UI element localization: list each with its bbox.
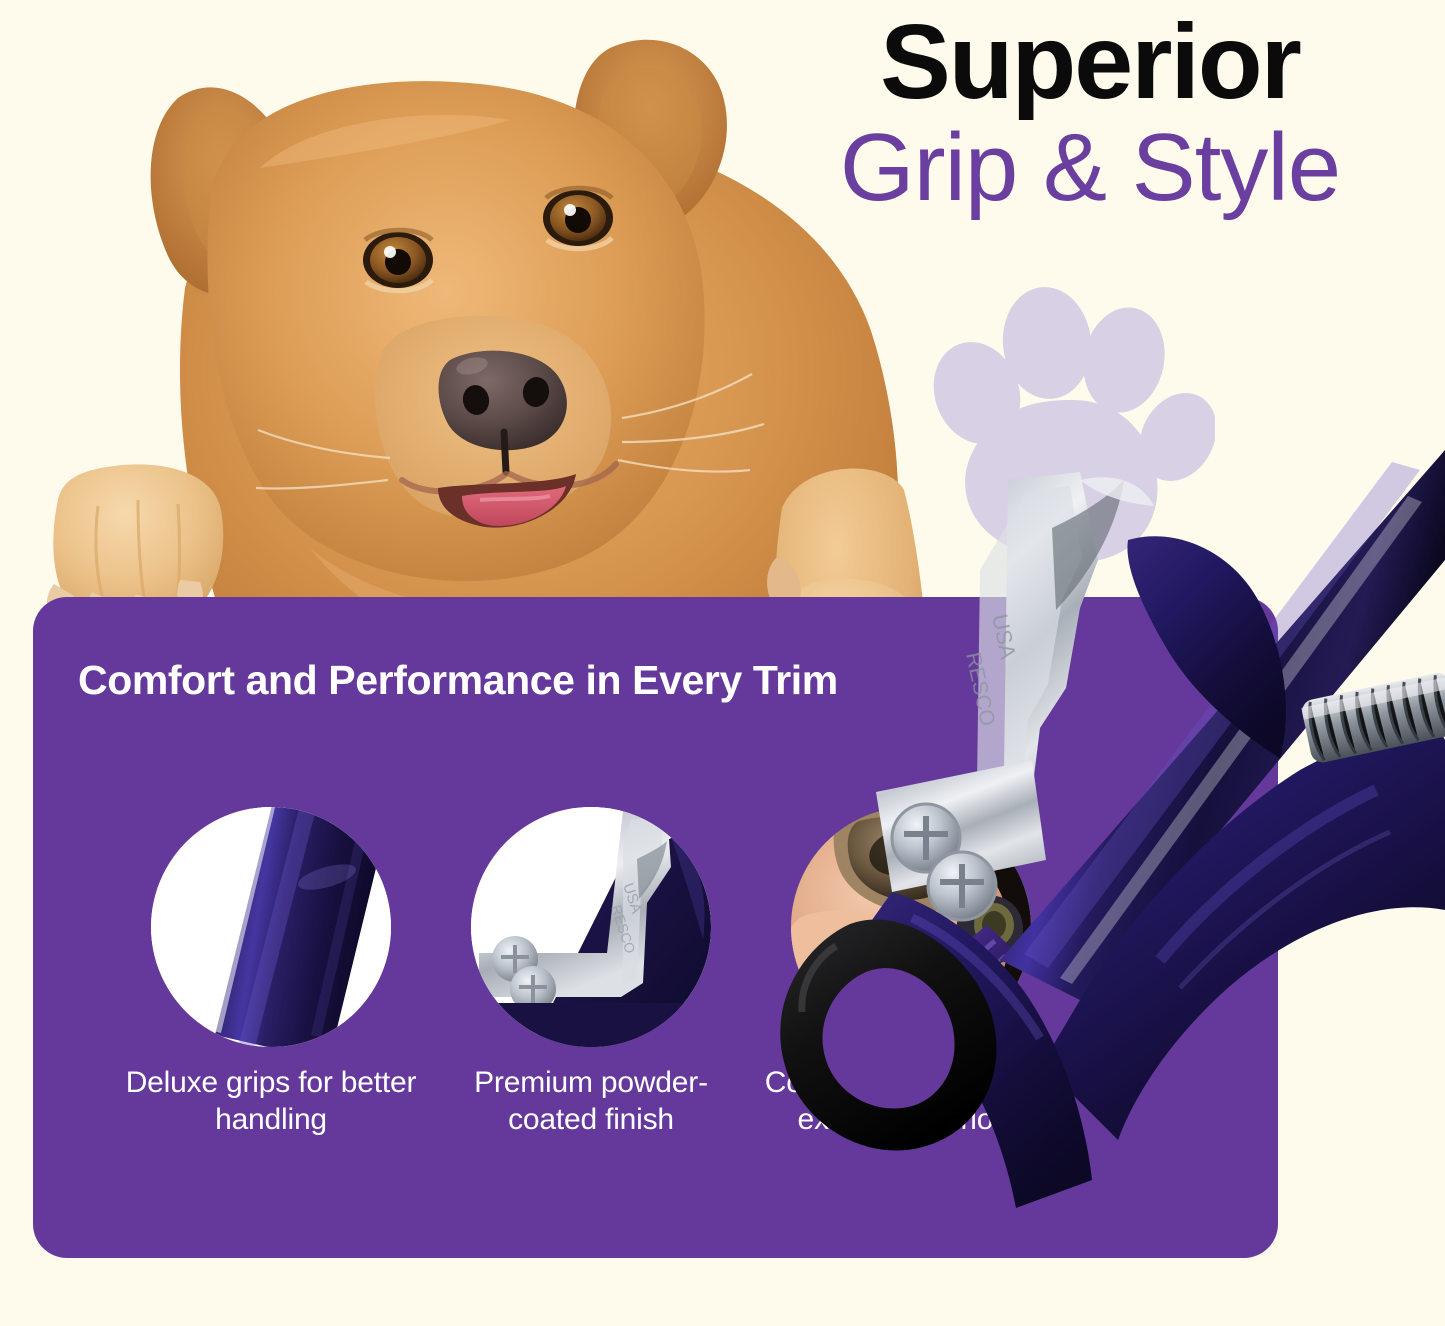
headline-line-2: Grip & Style <box>760 118 1420 219</box>
headline: Superior Grip & Style <box>760 8 1420 219</box>
feature-image-blade: USA RESCO <box>471 807 711 1047</box>
feature-image-in-use <box>791 807 1031 1047</box>
feature-image-handle <box>151 807 391 1047</box>
headline-line-1: Superior <box>760 8 1420 116</box>
feature-caption-finish: Premium powder-coated finish <box>431 1065 751 1138</box>
feature-card: Comfort and Performance in Every Trim <box>33 597 1278 1258</box>
feature-caption-comfort: Comfortable to use for extended periods <box>751 1065 1071 1138</box>
card-title: Comfort and Performance in Every Trim <box>78 655 838 706</box>
feature-item-finish: USA RESCO Premium powder-coated finish <box>431 807 751 1138</box>
feature-list: Deluxe grips for better handling <box>111 807 1111 1227</box>
feature-caption-grips: Deluxe grips for better handling <box>111 1065 431 1138</box>
marketing-banner: Superior Grip & Style Comfort and Perfor… <box>0 0 1445 1326</box>
paw-print-icon <box>925 265 1215 565</box>
feature-item-comfort: Comfortable to use for extended periods <box>751 807 1071 1138</box>
feature-item-grips: Deluxe grips for better handling <box>111 807 431 1138</box>
